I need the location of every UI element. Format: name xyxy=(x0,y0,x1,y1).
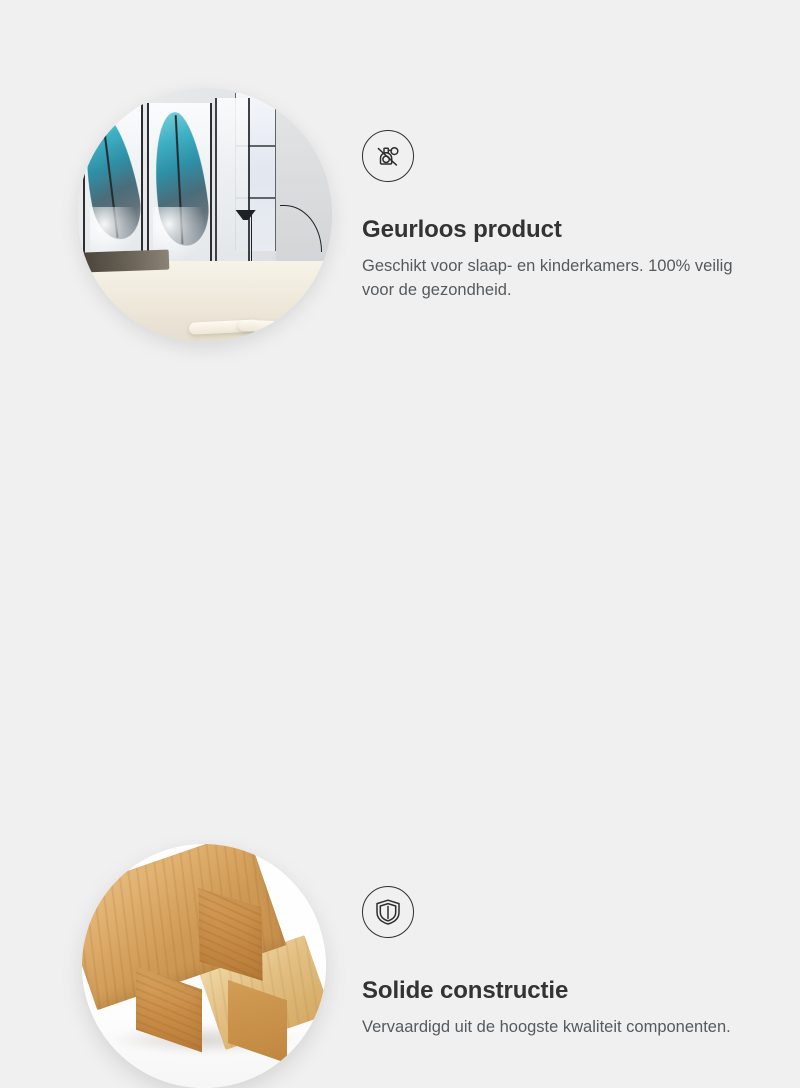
feature-text-solide-constructie: Solide constructie Vervaardigd uit de ho… xyxy=(362,886,762,1040)
photo-content xyxy=(82,844,326,1088)
headboard xyxy=(83,249,170,272)
wood-blocks-scene xyxy=(82,844,326,1088)
shield-icon xyxy=(362,886,414,938)
feature-description: Vervaardigd uit de hoogste kwaliteit com… xyxy=(362,1016,744,1040)
feature-title: Solide constructie xyxy=(362,977,762,1006)
canvas-panel-center xyxy=(147,103,212,271)
feature-title: Geurloos product xyxy=(362,216,762,245)
feature-description: Geschikt voor slaap- en kinderkamers. 10… xyxy=(362,255,744,303)
bedroom-feather-canvas-photo xyxy=(78,88,332,342)
feature-text-geurloos-product: Geurloos product Geschikt voor slaap- en… xyxy=(362,130,762,303)
wooden-beams-photo xyxy=(82,844,326,1088)
photo-content xyxy=(78,88,332,342)
shield-glyph xyxy=(372,896,404,928)
bedroom-scene xyxy=(78,88,332,342)
no-fragrance-glyph xyxy=(371,139,405,173)
feature-block-geurloos-product: Geurloos product Geschikt voor slaap- en… xyxy=(0,0,800,400)
product-feature-page: Geurloos product Geschikt voor slaap- en… xyxy=(0,0,800,800)
bed xyxy=(78,261,332,342)
feature-block-solide-constructie: Solide constructie Vervaardigd uit de ho… xyxy=(0,400,800,800)
canvas-panel-right xyxy=(215,98,249,266)
no-fragrance-icon xyxy=(362,130,414,182)
canvas-panel-left xyxy=(83,103,143,271)
